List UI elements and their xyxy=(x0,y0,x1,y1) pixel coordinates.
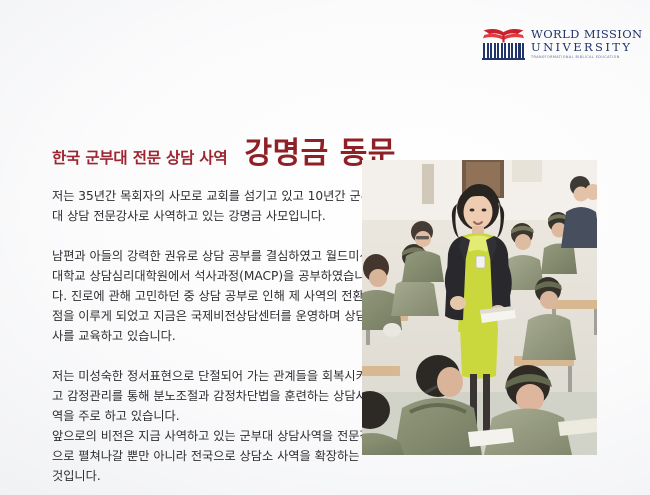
logo-mark-icon xyxy=(482,28,525,60)
slide-canvas: WORLD MISSION UNIVERSITY TRANSFORMATIONA… xyxy=(0,0,650,495)
logo-base-bar xyxy=(482,58,525,60)
page-title: 한국 군부대 전문 상담 사역 강명금 동문 xyxy=(52,128,396,172)
open-book-icon xyxy=(482,28,525,43)
paragraph-3: 저는 미성숙한 정서표현으로 단절되어 가는 관계들을 회복시키고 감정관리를 … xyxy=(52,366,372,426)
paragraph-1: 저는 35년간 목회자의 사모로 교회를 섬기고 있고 10년간 군부대 상담 … xyxy=(52,186,372,226)
logo-wordmark: WORLD MISSION UNIVERSITY TRANSFORMATIONA… xyxy=(531,29,643,60)
logo-tagline: TRANSFORMATIONAL BIBLICAL EDUCATION xyxy=(531,56,643,60)
logo-pillars-icon xyxy=(483,43,524,58)
logo-line-one: WORLD MISSION xyxy=(531,29,643,41)
body-copy: 저는 35년간 목회자의 사모로 교회를 섬기고 있고 10년간 군부대 상담 … xyxy=(52,186,372,486)
title-kicker: 한국 군부대 전문 상담 사역 xyxy=(52,146,227,168)
logo-line-two: UNIVERSITY xyxy=(531,42,643,54)
paragraph-2: 남편과 아들의 강력한 권유로 상담 공부를 결심하였고 월드미션대학교 상담심… xyxy=(52,246,372,346)
counseling-session-photo xyxy=(362,160,597,455)
paragraph-4: 앞으로의 비전은 지금 사역하고 있는 군부대 상담사역을 전문적으로 펼쳐나갈… xyxy=(52,426,372,486)
world-mission-university-logo: WORLD MISSION UNIVERSITY TRANSFORMATIONA… xyxy=(482,26,622,62)
photo-illustration xyxy=(362,160,597,455)
